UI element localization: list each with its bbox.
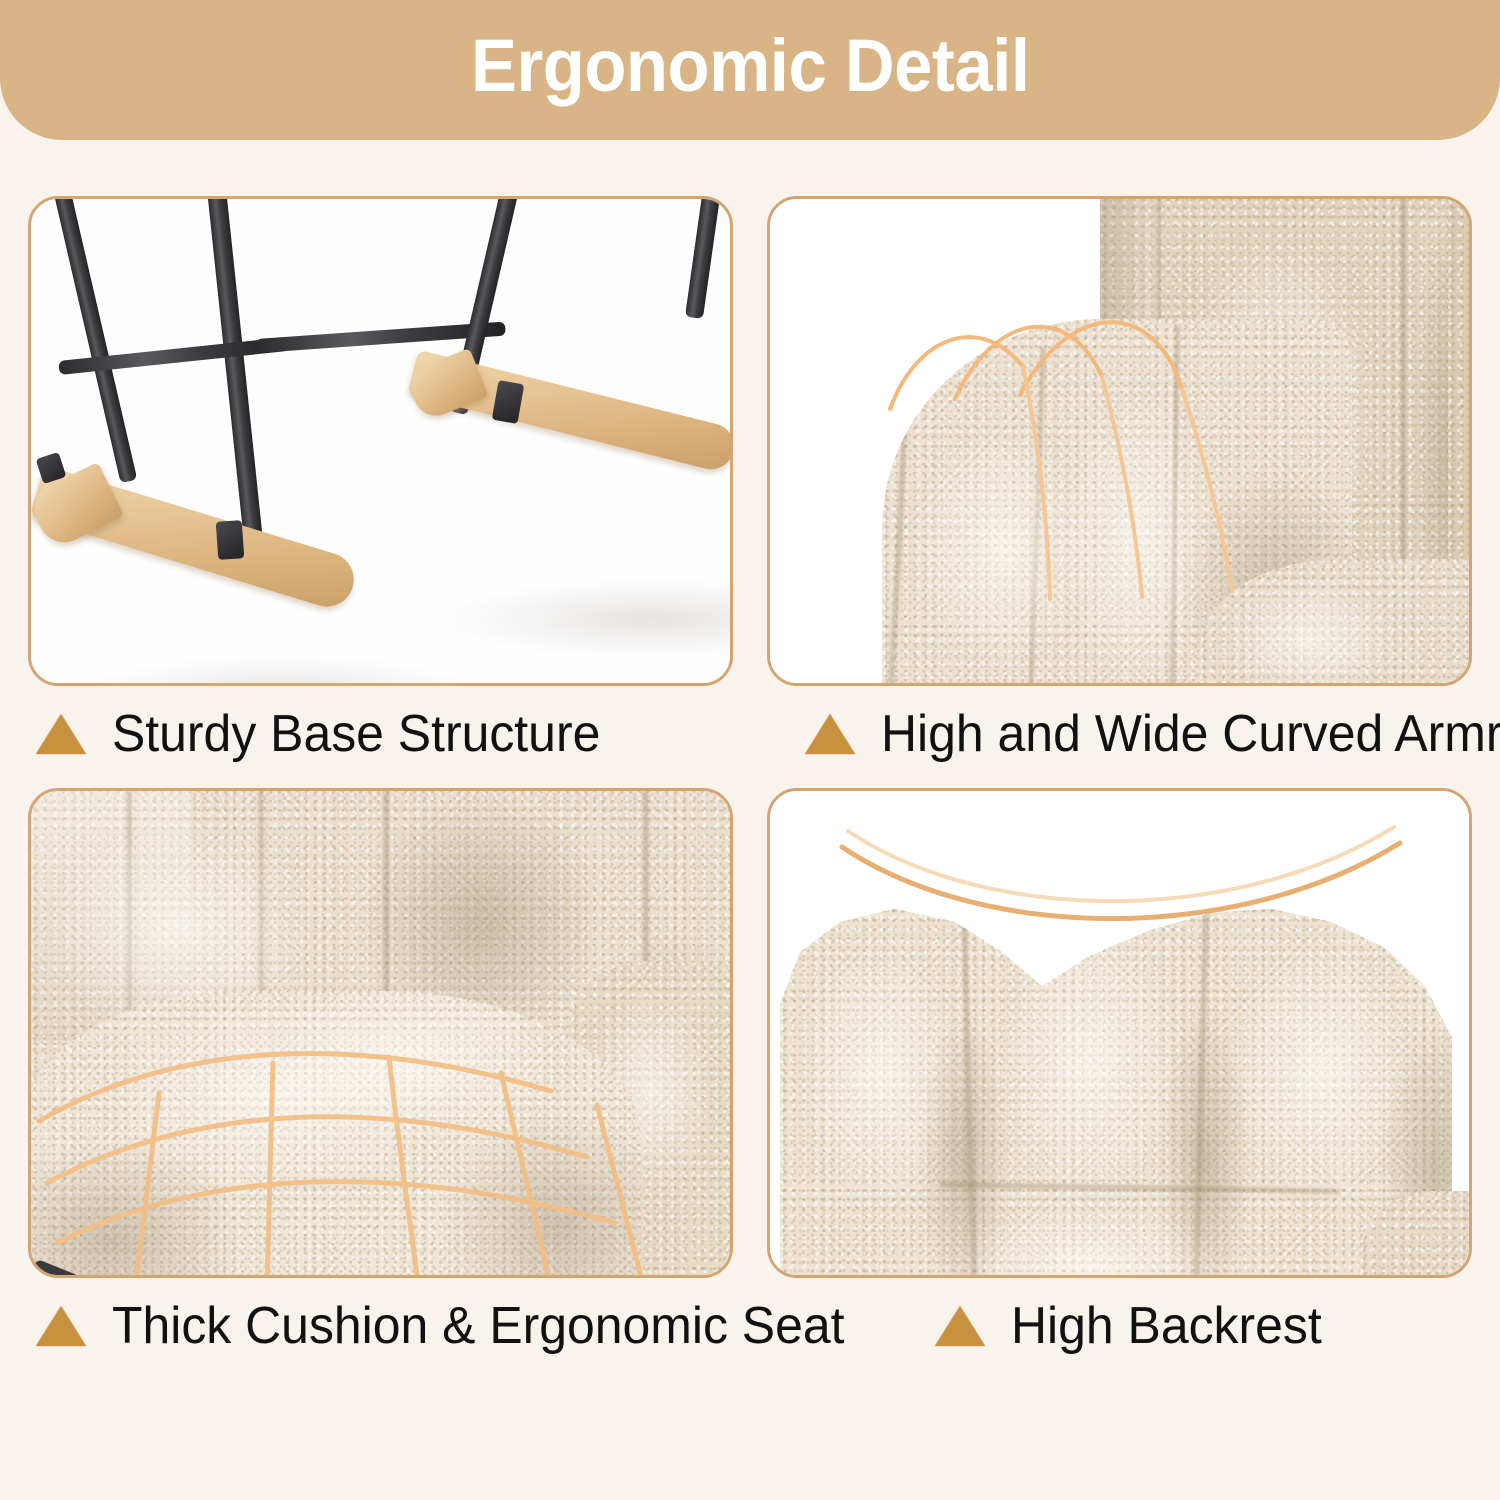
feature-caption-sturdy-base-structure: Sturdy Base Structure bbox=[28, 708, 733, 760]
feature-caption-high-wide-curved-armrest: High and Wide Curved Armrest bbox=[767, 708, 1472, 760]
feature-card-thick-cushion-ergonomic-seat[interactable]: Thick Cushion & Ergonomic Seat bbox=[28, 788, 733, 1352]
feature-label: High Backrest bbox=[1011, 1300, 1322, 1352]
feature-label: Sturdy Base Structure bbox=[112, 708, 600, 760]
feature-card-sturdy-base-structure[interactable]: Sturdy Base Structure bbox=[28, 196, 733, 760]
page-title: Ergonomic Detail bbox=[471, 29, 1030, 103]
feature-label: Thick Cushion & Ergonomic Seat bbox=[112, 1300, 844, 1352]
triangle-bullet-icon bbox=[935, 1306, 985, 1346]
backrest-top-arc-annotation bbox=[770, 791, 1472, 1278]
seat-cushion-illustration bbox=[31, 791, 730, 1275]
feature-caption-high-backrest: High Backrest bbox=[767, 1300, 1472, 1352]
armrest-curve-annotation bbox=[770, 199, 1472, 686]
triangle-bullet-icon bbox=[805, 714, 855, 754]
feature-card-high-wide-curved-armrest[interactable]: High and Wide Curved Armrest bbox=[767, 196, 1472, 760]
feature-card-high-backrest[interactable]: High Backrest bbox=[767, 788, 1472, 1352]
backrest-illustration bbox=[770, 791, 1469, 1275]
armrest-illustration bbox=[770, 199, 1469, 683]
contour-grid-overlay bbox=[31, 791, 733, 1278]
triangle-bullet-icon bbox=[36, 1306, 86, 1346]
feature-caption-thick-cushion-ergonomic-seat: Thick Cushion & Ergonomic Seat bbox=[28, 1300, 733, 1352]
triangle-bullet-icon bbox=[36, 714, 86, 754]
feature-grid: Sturdy Base Structure bbox=[28, 196, 1472, 1476]
feature-label: High and Wide Curved Armrest bbox=[881, 708, 1500, 760]
rocking-chair-base-illustration bbox=[31, 199, 730, 683]
feature-image-high-wide-curved-armrest bbox=[767, 196, 1472, 686]
header-banner: Ergonomic Detail bbox=[0, 0, 1500, 140]
feature-image-high-backrest bbox=[767, 788, 1472, 1278]
feature-image-thick-cushion-ergonomic-seat bbox=[28, 788, 733, 1278]
feature-image-sturdy-base-structure bbox=[28, 196, 733, 686]
